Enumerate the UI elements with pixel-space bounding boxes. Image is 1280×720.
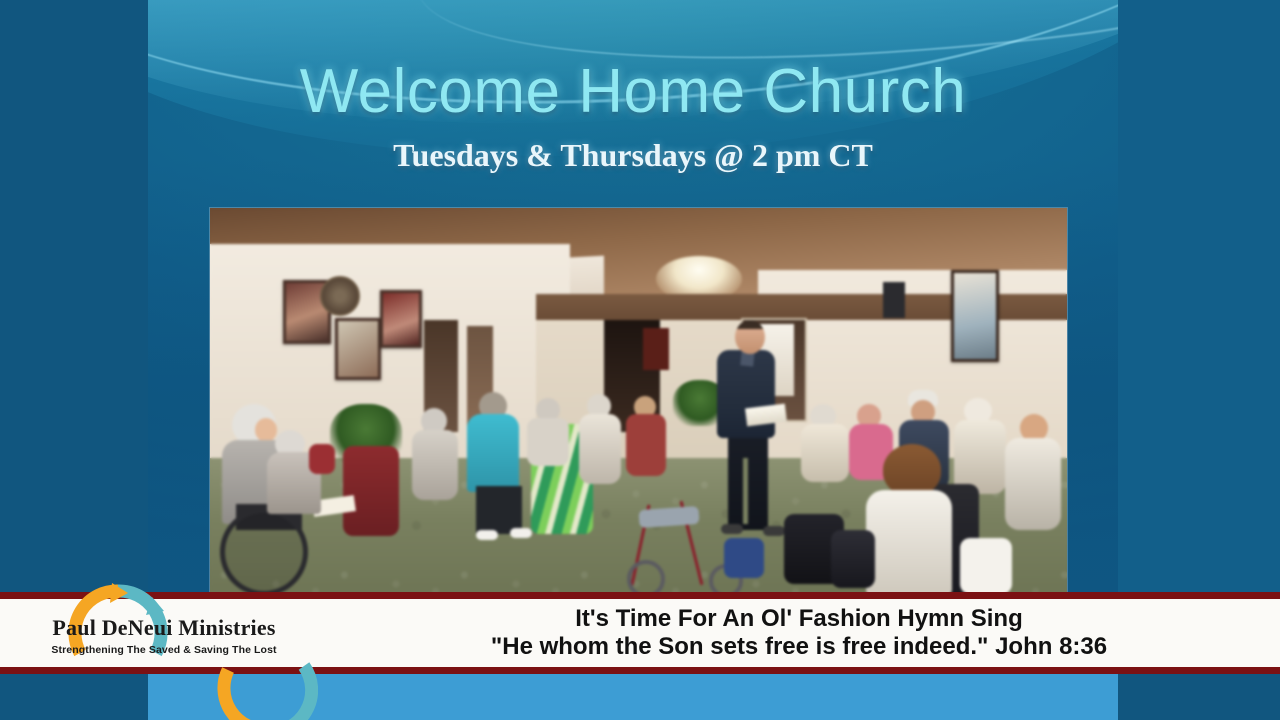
caption-line-2: "He whom the Son sets free is free indee… bbox=[330, 633, 1268, 661]
page-title: Welcome Home Church bbox=[148, 56, 1118, 127]
logo-wordmark: Paul DeNeui Ministries Strengthening The… bbox=[14, 617, 314, 656]
ministry-name: Paul DeNeui Ministries bbox=[14, 617, 314, 639]
bottom-band-inner bbox=[148, 674, 1118, 720]
caption-text-block: It's Time For An Ol' Fashion Hymn Sing "… bbox=[330, 605, 1280, 662]
caption-line-1: It's Time For An Ol' Fashion Hymn Sing bbox=[330, 605, 1268, 633]
service-photo bbox=[210, 208, 1067, 594]
broadcast-screen: Welcome Home Church Tuesdays & Thursdays… bbox=[0, 0, 1280, 720]
schedule-subtitle: Tuesdays & Thursdays @ 2 pm CT bbox=[148, 137, 1118, 174]
photo-soft-focus-overlay bbox=[210, 208, 1067, 594]
lower-third-caption-bar: Paul DeNeui Ministries Strengthening The… bbox=[0, 592, 1280, 674]
ministry-tagline: Strengthening The Saved & Saving The Los… bbox=[14, 644, 314, 656]
ministry-logo: Paul DeNeui Ministries Strengthening The… bbox=[0, 599, 330, 667]
